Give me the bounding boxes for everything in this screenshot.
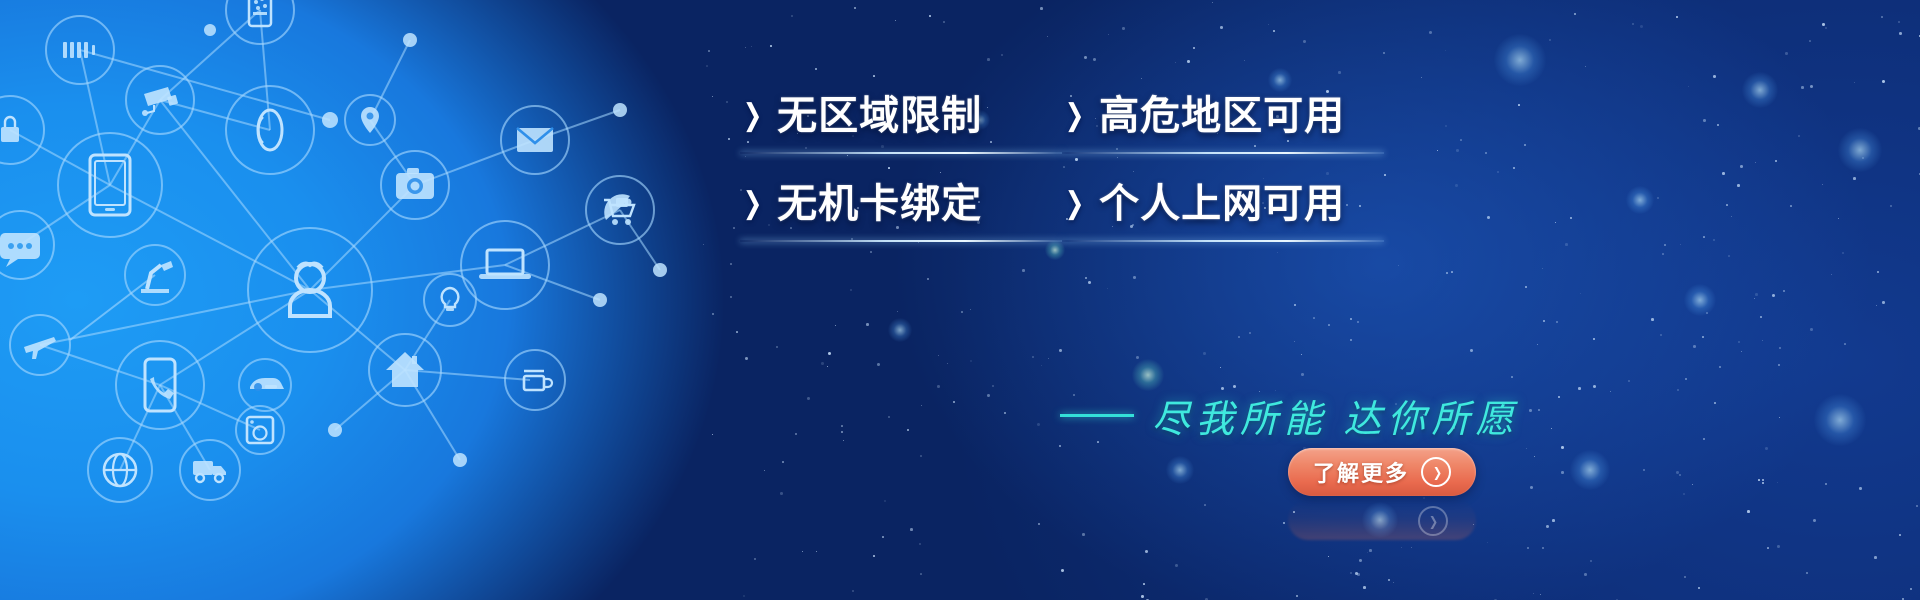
lock-icon bbox=[1, 117, 19, 142]
chart-device-icon bbox=[249, 0, 271, 26]
feature-row-1: ❯ 无区域限制 ❯ 高危地区可用 bbox=[740, 96, 1460, 136]
divider-row-2 bbox=[740, 224, 1460, 242]
tagline-dash bbox=[1060, 414, 1134, 417]
promo-banner: ❯ 无区域限制 ❯ 高危地区可用 ❯ 无机卡绑定 ❯ bbox=[0, 0, 1920, 600]
envelope-icon bbox=[517, 128, 553, 152]
feature-label: 个人上网可用 bbox=[1099, 184, 1345, 224]
feature-underline bbox=[1062, 240, 1384, 242]
arrow-right-circle-reflection-icon: ❯ bbox=[1418, 506, 1448, 536]
battery-icon bbox=[63, 42, 95, 58]
feature-list: ❯ 无区域限制 ❯ 高危地区可用 ❯ 无机卡绑定 ❯ bbox=[740, 96, 1460, 242]
chevron-right-icon: ❯ bbox=[743, 101, 763, 131]
iot-network-graphic-lower bbox=[60, 200, 480, 600]
feature-item-no-sim-binding[interactable]: ❯ 无机卡绑定 bbox=[740, 184, 1062, 224]
robot-arm-icon bbox=[141, 261, 173, 293]
chevron-right-icon: ❯ bbox=[743, 189, 763, 219]
cctv-camera-icon bbox=[142, 87, 178, 116]
feature-label: 无机卡绑定 bbox=[777, 184, 982, 224]
cta-area: 了解更多 ❯ ❯ bbox=[1288, 448, 1476, 540]
feature-row-2: ❯ 无机卡绑定 ❯ 个人上网可用 bbox=[740, 184, 1460, 224]
chevron-right-icon: ❯ bbox=[1065, 189, 1085, 219]
banner-content: ❯ 无区域限制 ❯ 高危地区可用 ❯ 无机卡绑定 ❯ bbox=[740, 96, 1540, 516]
tagline: 尽我所能 达你所愿 bbox=[1060, 388, 1520, 443]
feature-underline bbox=[740, 152, 1062, 154]
feature-item-no-region-limit[interactable]: ❯ 无区域限制 bbox=[740, 96, 1062, 136]
feature-label: 高危地区可用 bbox=[1099, 96, 1345, 136]
feature-underline bbox=[740, 240, 1062, 242]
chevron-right-icon: ❯ bbox=[1065, 101, 1085, 131]
learn-more-button[interactable]: 了解更多 ❯ bbox=[1288, 448, 1476, 496]
feature-item-high-risk-area-available[interactable]: ❯ 高危地区可用 bbox=[1062, 96, 1384, 136]
tagline-text: 尽我所能 达你所愿 bbox=[1152, 388, 1520, 443]
feature-underline bbox=[1062, 152, 1384, 154]
feature-label: 无区域限制 bbox=[777, 96, 982, 136]
learn-more-label: 了解更多 bbox=[1313, 456, 1409, 488]
camera-icon bbox=[396, 168, 434, 199]
feature-item-personal-internet-available[interactable]: ❯ 个人上网可用 bbox=[1062, 184, 1384, 224]
divider-row-1 bbox=[740, 136, 1460, 154]
chat-bubble-icon bbox=[0, 233, 40, 267]
arrow-right-circle-icon: ❯ bbox=[1421, 457, 1451, 487]
car-key-icon bbox=[250, 378, 284, 391]
